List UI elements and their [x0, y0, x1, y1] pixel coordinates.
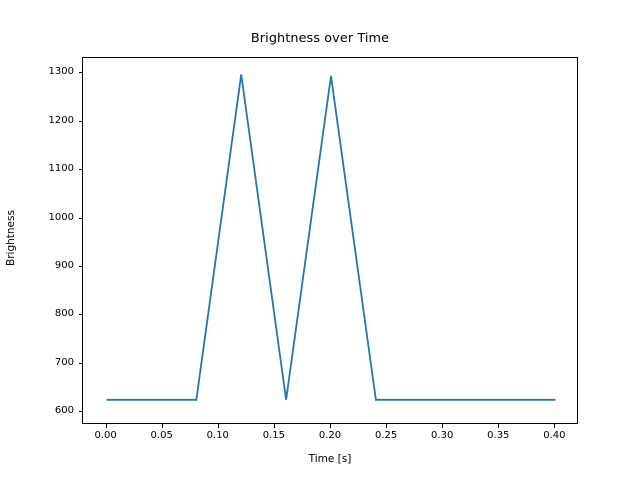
- y-tick-label: 600: [0, 405, 74, 416]
- x-tick-label: 0.00: [76, 430, 136, 441]
- x-tick-label: 0.35: [468, 430, 528, 441]
- x-tick-label: 0.30: [412, 430, 472, 441]
- y-tick-label: 1100: [0, 163, 74, 174]
- y-tick-mark: [79, 72, 83, 73]
- x-tick-mark: [330, 424, 331, 428]
- y-tick-mark: [79, 218, 83, 219]
- line-series-svg: [83, 58, 579, 425]
- y-tick-mark: [79, 363, 83, 364]
- y-tick-mark: [79, 169, 83, 170]
- y-tick-label: 800: [0, 308, 74, 319]
- chart-figure: Brightness over Time Brightness 60070080…: [0, 0, 640, 480]
- x-tick-mark: [106, 424, 107, 428]
- y-tick-mark: [79, 266, 83, 267]
- x-axis-label: Time [s]: [82, 453, 578, 465]
- y-tick-label: 1300: [0, 66, 74, 77]
- y-tick-mark: [79, 411, 83, 412]
- x-tick-mark: [554, 424, 555, 428]
- y-axis-label-container: Brightness: [0, 57, 22, 424]
- y-tick-mark: [79, 314, 83, 315]
- x-tick-label: 0.10: [188, 430, 248, 441]
- y-tick-label: 1000: [0, 212, 74, 223]
- y-tick-label: 1200: [0, 115, 74, 126]
- x-tick-label: 0.20: [300, 430, 360, 441]
- x-tick-mark: [386, 424, 387, 428]
- brightness-line: [107, 74, 556, 399]
- y-axis-label: Brightness: [5, 150, 17, 326]
- x-tick-label: 0.25: [356, 430, 416, 441]
- x-tick-mark: [442, 424, 443, 428]
- y-tick-mark: [79, 121, 83, 122]
- chart-title: Brightness over Time: [0, 31, 640, 46]
- x-tick-label: 0.15: [244, 430, 304, 441]
- x-tick-label: 0.40: [524, 430, 584, 441]
- x-tick-label: 0.05: [132, 430, 192, 441]
- x-tick-mark: [498, 424, 499, 428]
- y-tick-label: 700: [0, 357, 74, 368]
- y-tick-label: 900: [0, 260, 74, 271]
- x-tick-mark: [162, 424, 163, 428]
- x-tick-mark: [218, 424, 219, 428]
- plot-area: [82, 57, 578, 424]
- x-tick-mark: [274, 424, 275, 428]
